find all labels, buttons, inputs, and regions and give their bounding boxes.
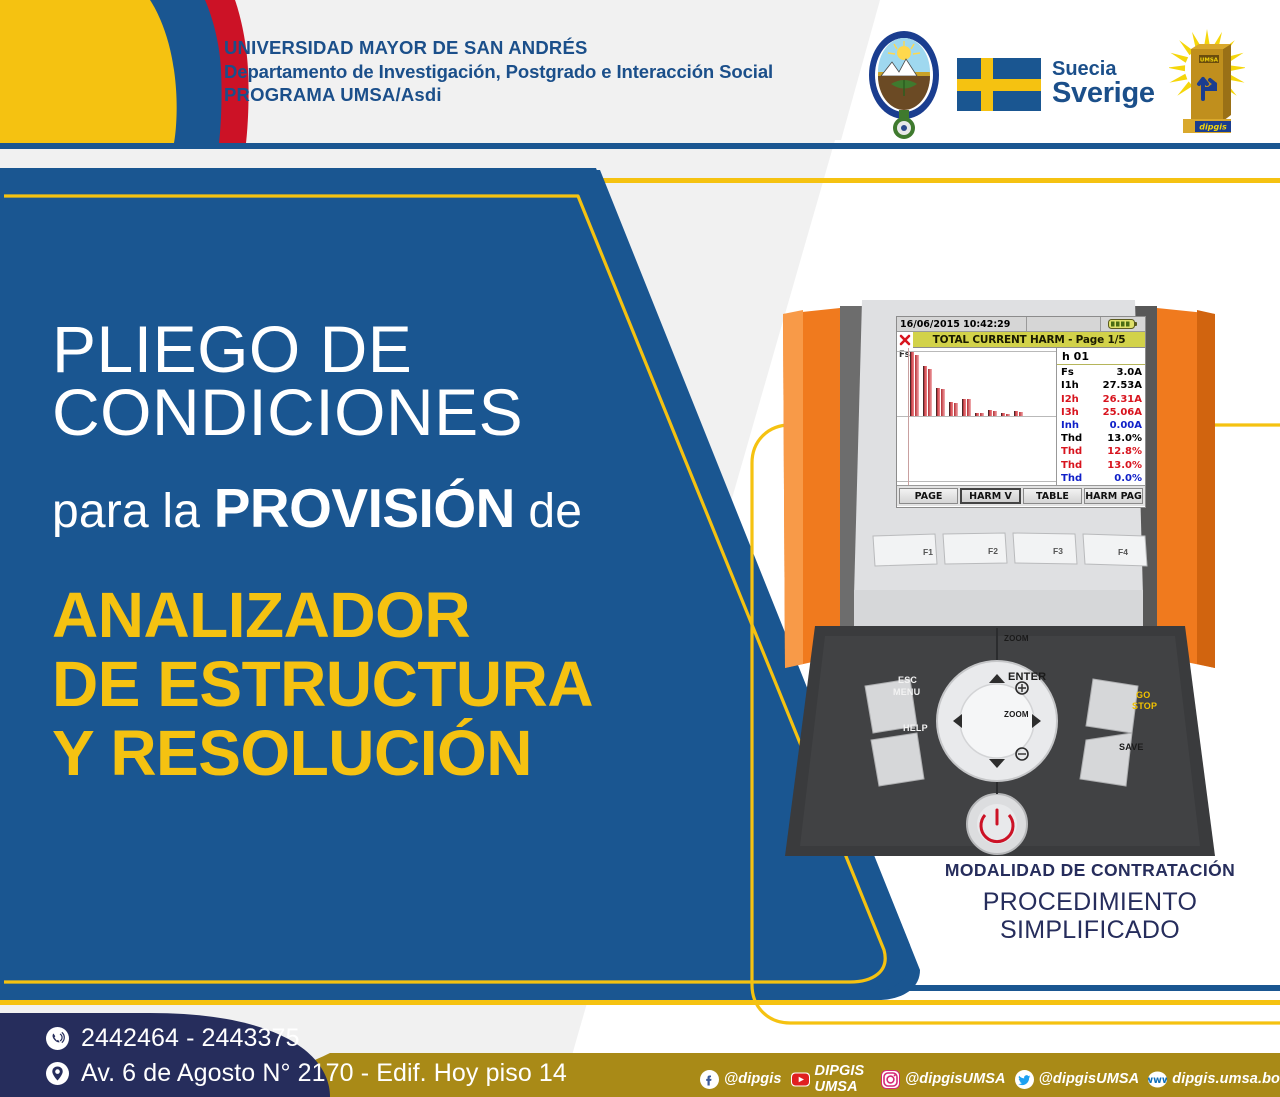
reading-label: I2h bbox=[1061, 393, 1079, 406]
chart-bar-pair bbox=[923, 366, 932, 416]
function-key-f4-label[interactable]: F4 bbox=[1118, 547, 1128, 557]
chart-bar bbox=[954, 403, 958, 416]
harmonics-bar-chart: Fs bbox=[897, 348, 1057, 485]
reading-label: I3h bbox=[1061, 406, 1079, 419]
social-item-twitter[interactable]: @dipgisUMSA bbox=[1015, 1070, 1140, 1089]
chart-bar bbox=[928, 369, 932, 416]
sweden-logo: Suecia Sverige bbox=[957, 58, 1155, 111]
social-handle: @dipgis bbox=[724, 1071, 782, 1087]
softkey-page[interactable]: PAGE bbox=[899, 488, 958, 504]
lcd-status-blank bbox=[1027, 317, 1101, 331]
reading-label: Thd bbox=[1061, 472, 1082, 485]
lcd-softkey-bar: PAGEHARM VTABLEHARM PAG bbox=[897, 485, 1145, 506]
chart-bar-pair bbox=[936, 388, 945, 416]
reading-value: 0.00A bbox=[1110, 419, 1142, 432]
reading-label: Inh bbox=[1061, 419, 1079, 432]
reading-value: 12.8% bbox=[1107, 445, 1142, 458]
reading-label: Thd bbox=[1061, 459, 1082, 472]
chart-bar bbox=[975, 413, 979, 416]
sweden-label-sv: Sverige bbox=[1052, 79, 1155, 109]
subtitle-suffix: de bbox=[515, 485, 582, 538]
harmonic-selector[interactable]: h 01 bbox=[1057, 348, 1145, 365]
function-key-f3-label[interactable]: F3 bbox=[1053, 546, 1063, 556]
contact-address: Av. 6 de Agosto N° 2170 - Edif. Hoy piso… bbox=[81, 1059, 567, 1088]
modality-value-line1: PROCEDIMIENTO bbox=[905, 888, 1275, 916]
reading-row: Thd12.8% bbox=[1061, 445, 1142, 458]
close-icon[interactable] bbox=[897, 332, 913, 348]
modality-value: PROCEDIMIENTO SIMPLIFICADO bbox=[905, 888, 1275, 944]
chart-bar-pair bbox=[949, 402, 958, 416]
chart-bar bbox=[962, 399, 966, 416]
reading-value: 25.06A bbox=[1103, 406, 1142, 419]
chart-bar bbox=[980, 413, 984, 416]
header-line-university: UNIVERSIDAD MAYOR DE SAN ANDRÉS bbox=[224, 36, 884, 60]
reading-row: I2h26.31A bbox=[1061, 393, 1142, 406]
chart-bar-pair bbox=[988, 410, 997, 416]
contract-modality-block: MODALIDAD DE CONTRATACIÓN PROCEDIMIENTO … bbox=[905, 860, 1275, 944]
save-button-label[interactable]: SAVE bbox=[1119, 742, 1144, 752]
reading-row: Thd13.0% bbox=[1061, 459, 1142, 472]
lcd-datetime: 16/06/2015 10:42:29 bbox=[897, 317, 1027, 331]
chart-bar bbox=[967, 399, 971, 416]
reading-value: 0.0% bbox=[1114, 472, 1142, 485]
chart-bar-pair bbox=[962, 399, 971, 416]
subtitle-strong: PROVISIÓN bbox=[214, 477, 515, 539]
reading-row: Thd13.0% bbox=[1061, 432, 1142, 445]
softkey-table[interactable]: TABLE bbox=[1023, 488, 1082, 504]
reading-row: Inh0.00A bbox=[1061, 419, 1142, 432]
social-item-facebook[interactable]: @dipgis bbox=[700, 1070, 782, 1089]
social-handle: @dipgisUMSA bbox=[1039, 1071, 1140, 1087]
modality-value-line2: SIMPLIFICADO bbox=[905, 916, 1275, 944]
social-item-youtube[interactable]: DIPGIS UMSA bbox=[791, 1063, 872, 1095]
reading-label: Thd bbox=[1061, 432, 1082, 445]
reading-label: Thd bbox=[1061, 445, 1082, 458]
social-item-instagram[interactable]: @dipgisUMSA bbox=[881, 1070, 1006, 1089]
reading-value: 13.0% bbox=[1107, 432, 1142, 445]
reading-value: 13.0% bbox=[1107, 459, 1142, 472]
main-text-block: PLIEGO DE CONDICIONES para la PROVISIÓN … bbox=[52, 318, 752, 788]
readings-list: Fs3.0AI1h27.53AI2h26.31AI3h25.06AInh0.00… bbox=[1057, 365, 1145, 485]
social-handle: @dipgisUMSA bbox=[905, 1071, 1006, 1087]
chart-bar bbox=[1001, 413, 1005, 416]
chart-bar bbox=[993, 411, 997, 416]
header-line-program: PROGRAMA UMSA/Asdi bbox=[224, 83, 884, 107]
chart-bar bbox=[949, 402, 953, 416]
product-name-line3: Y RESOLUCIÓN bbox=[52, 719, 752, 788]
function-key-f1-label[interactable]: F1 bbox=[923, 547, 933, 557]
poster-canvas: UNIVERSIDAD MAYOR DE SAN ANDRÉS Departam… bbox=[0, 0, 1280, 1097]
zoom-out-button-label[interactable]: ZOOM bbox=[1004, 710, 1029, 719]
website-icon[interactable]: www bbox=[1148, 1070, 1167, 1089]
poster-title-line1: PLIEGO DE bbox=[52, 318, 752, 381]
subtitle-prefix: para la bbox=[52, 485, 214, 538]
poster-subtitle: para la PROVISIÓN de bbox=[52, 481, 752, 536]
instagram-icon[interactable] bbox=[881, 1070, 900, 1089]
social-media-bar: @dipgisDIPGIS UMSA@dipgisUMSA@dipgisUMSA… bbox=[700, 1063, 1280, 1095]
modality-heading: MODALIDAD DE CONTRATACIÓN bbox=[905, 860, 1275, 881]
enter-button-label[interactable]: ENTER bbox=[1008, 671, 1046, 683]
softkey-harm-v[interactable]: HARM V bbox=[960, 488, 1021, 504]
chart-bars bbox=[910, 352, 1054, 416]
contact-block: 2442464 - 2443375 Av. 6 de Agosto N° 217… bbox=[46, 1024, 567, 1094]
zoom-in-button-label[interactable]: ZOOM bbox=[1004, 634, 1029, 643]
location-pin-icon bbox=[46, 1062, 69, 1085]
sweden-label-es: Suecia bbox=[1052, 59, 1155, 79]
header-line-department: Departamento de Investigación, Postgrado… bbox=[224, 60, 884, 84]
chart-bar bbox=[936, 388, 940, 416]
contact-phone-row: 2442464 - 2443375 bbox=[46, 1024, 567, 1053]
stop-button-label[interactable]: STOP bbox=[1132, 701, 1157, 711]
chart-bar-pair bbox=[910, 352, 919, 416]
chart-bar bbox=[1019, 412, 1023, 416]
function-key-f2-label[interactable]: F2 bbox=[988, 546, 998, 556]
reading-row: I1h27.53A bbox=[1061, 379, 1142, 392]
help-button-label[interactable]: HELP bbox=[903, 723, 928, 733]
battery-indicator bbox=[1101, 317, 1145, 331]
chart-bar-pair bbox=[1014, 411, 1023, 416]
sweden-flag-icon bbox=[957, 58, 1041, 111]
reading-value: 27.53A bbox=[1103, 379, 1142, 392]
twitter-icon[interactable] bbox=[1015, 1070, 1034, 1089]
contact-phone: 2442464 - 2443375 bbox=[81, 1024, 300, 1053]
reading-row: Thd0.0% bbox=[1061, 472, 1142, 485]
chart-bar-pair bbox=[1001, 413, 1010, 416]
poster-title-line2: CONDICIONES bbox=[52, 381, 752, 444]
product-name-line1: ANALIZADOR bbox=[52, 581, 752, 650]
battery-icon bbox=[1108, 319, 1138, 329]
logo-row: Suecia Sverige bbox=[865, 24, 1245, 144]
facebook-icon[interactable] bbox=[700, 1070, 719, 1089]
lcd-screen-title: TOTAL CURRENT HARM - Page 1/5 bbox=[913, 334, 1145, 346]
chart-bar bbox=[1014, 411, 1018, 416]
contact-address-row: Av. 6 de Agosto N° 2170 - Edif. Hoy piso… bbox=[46, 1059, 567, 1088]
reading-value: 3.0A bbox=[1117, 366, 1142, 379]
device-lcd-screen: 16/06/2015 10:42:29 TOTAL CURRE bbox=[896, 316, 1146, 508]
chart-bar bbox=[923, 366, 927, 416]
reading-label: I1h bbox=[1061, 379, 1079, 392]
go-button-label[interactable]: GO bbox=[1136, 690, 1150, 700]
chart-bar bbox=[941, 389, 945, 416]
reading-row: Fs3.0A bbox=[1061, 366, 1142, 379]
phone-icon bbox=[46, 1027, 69, 1050]
social-handle: dipgis.umsa.bo bbox=[1172, 1071, 1280, 1087]
poster-title: PLIEGO DE CONDICIONES bbox=[52, 318, 752, 445]
chart-bar bbox=[910, 352, 914, 416]
lcd-content: Fs h 01 Fs3.0AI1h27.53AI2h26.31AI3h25.06… bbox=[897, 348, 1145, 485]
youtube-icon[interactable] bbox=[791, 1070, 810, 1089]
esc-button-label[interactable]: ESC bbox=[898, 675, 917, 685]
chart-bar-pair bbox=[975, 413, 984, 416]
dipgis-logo-icon: UMSA dipgis bbox=[1169, 27, 1245, 141]
reading-label: Fs bbox=[1061, 366, 1074, 379]
reading-value: 26.31A bbox=[1103, 393, 1142, 406]
svg-text:dipgis: dipgis bbox=[1199, 123, 1227, 132]
reading-row: I3h25.06A bbox=[1061, 406, 1142, 419]
menu-button-label[interactable]: MENU bbox=[893, 687, 920, 697]
chart-bar bbox=[1006, 414, 1010, 416]
svg-text:www: www bbox=[1148, 1075, 1167, 1086]
institution-header: UNIVERSIDAD MAYOR DE SAN ANDRÉS Departam… bbox=[224, 36, 884, 107]
readings-panel: h 01 Fs3.0AI1h27.53AI2h26.31AI3h25.06AIn… bbox=[1057, 348, 1145, 485]
product-name: ANALIZADOR DE ESTRUCTURA Y RESOLUCIÓN bbox=[52, 581, 752, 788]
social-handle: DIPGIS UMSA bbox=[815, 1063, 872, 1095]
lcd-status-bar: 16/06/2015 10:42:29 bbox=[897, 317, 1145, 332]
product-name-line2: DE ESTRUCTURA bbox=[52, 650, 752, 719]
chart-bar bbox=[988, 410, 992, 416]
softkey-harm-pag[interactable]: HARM PAG bbox=[1084, 488, 1143, 504]
svg-text:UMSA: UMSA bbox=[1200, 58, 1219, 64]
social-item-website[interactable]: wwwdipgis.umsa.bo bbox=[1148, 1070, 1280, 1089]
chart-bar bbox=[915, 355, 919, 416]
lcd-title-bar: TOTAL CURRENT HARM - Page 1/5 bbox=[897, 332, 1145, 348]
umsa-seal-icon bbox=[865, 28, 943, 140]
